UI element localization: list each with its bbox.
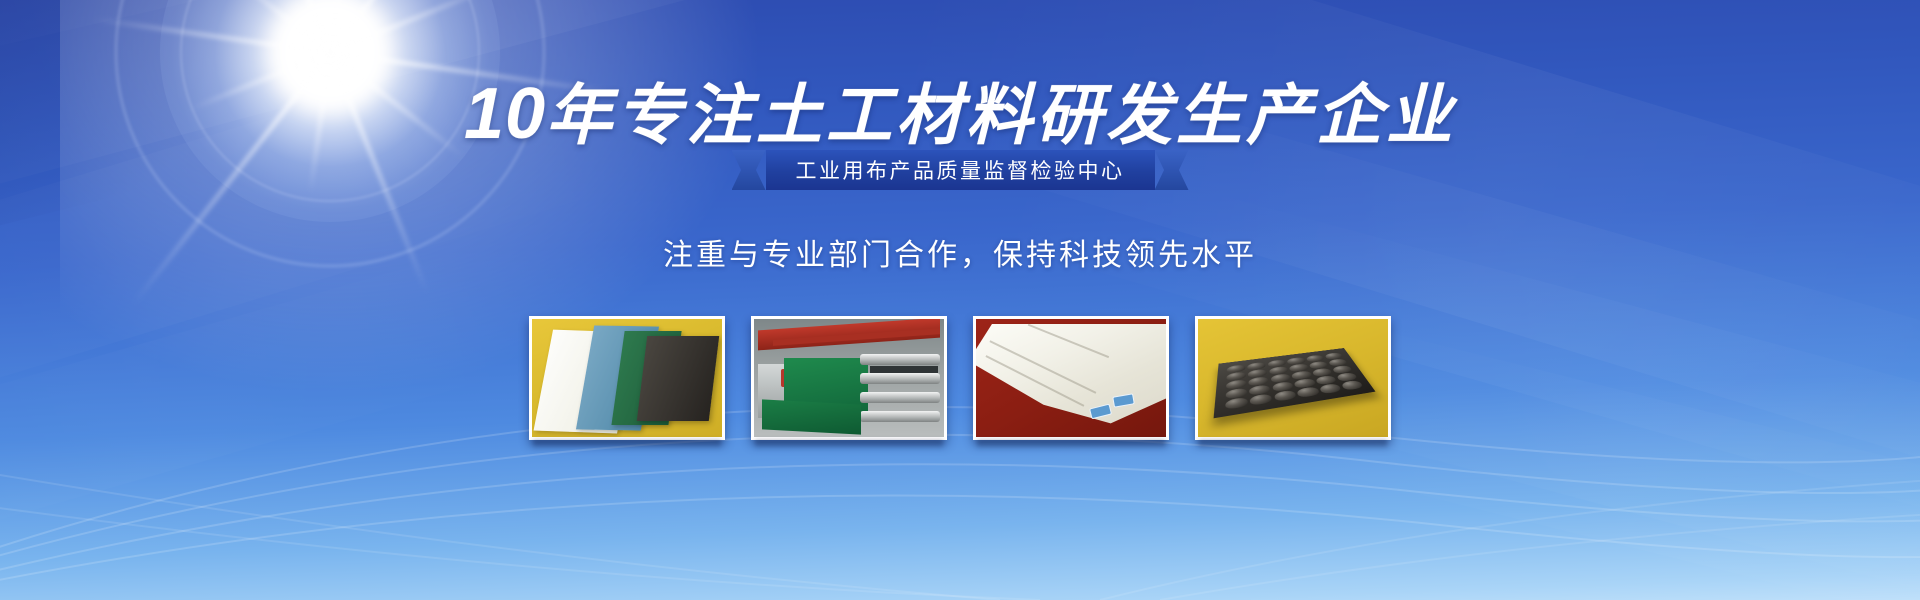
- photo-production-line: [754, 319, 944, 437]
- photo-shadow: [755, 440, 943, 449]
- gallery-item-drainage-board[interactable]: [1195, 316, 1391, 440]
- green-sheet-exit: [762, 399, 861, 434]
- photo-nonwoven-geotextile: [976, 319, 1166, 437]
- gallery-item-nonwoven-geotextile[interactable]: [973, 316, 1169, 440]
- headline-number: 10: [464, 74, 546, 154]
- stud: [1274, 390, 1297, 402]
- dimpled-board: [1213, 348, 1375, 418]
- steel-roller-1: [860, 354, 940, 365]
- photo-drainage-board: [1198, 319, 1388, 437]
- stud: [1297, 387, 1320, 398]
- banner-content: 10年专注土工材料研发生产企业 工业用布产品质量监督检验中心 注重与专业部门合作…: [0, 0, 1920, 600]
- badge-label: 工业用布产品质量监督检验中心: [766, 150, 1155, 190]
- photo-shadow: [533, 440, 721, 449]
- promo-banner: 10年专注土工材料研发生产企业 工业用布产品质量监督检验中心 注重与专业部门合作…: [0, 0, 1920, 600]
- stud: [1225, 397, 1248, 410]
- dark-roller: [870, 366, 938, 373]
- stud: [1340, 380, 1363, 391]
- photo-shadow: [1199, 440, 1387, 449]
- photo-geomembrane-sheets: [532, 319, 722, 437]
- stud: [1319, 383, 1342, 394]
- gallery-item-production-line[interactable]: [751, 316, 947, 440]
- page-title: 10年专注土工材料研发生产企业: [464, 78, 1456, 150]
- headline-text: 年专注土工材料研发生产企业: [546, 78, 1456, 152]
- steel-roller-4: [860, 411, 940, 422]
- sheet-black: [637, 336, 720, 421]
- gallery-item-geomembrane-sheets[interactable]: [529, 316, 725, 440]
- ribbon-left-tail: [732, 150, 766, 190]
- certification-badge: 工业用布产品质量监督检验中心: [732, 150, 1189, 190]
- tagline: 注重与专业部门合作，保持科技领先水平: [663, 230, 1257, 274]
- steel-roller-2: [860, 373, 940, 384]
- ribbon-right-tail: [1155, 150, 1189, 190]
- stud: [1250, 394, 1273, 406]
- steel-roller-3: [860, 392, 940, 403]
- white-fabric: [976, 324, 1166, 428]
- product-gallery: [529, 316, 1391, 440]
- stud-grid: [1213, 348, 1375, 418]
- photo-shadow: [977, 440, 1165, 449]
